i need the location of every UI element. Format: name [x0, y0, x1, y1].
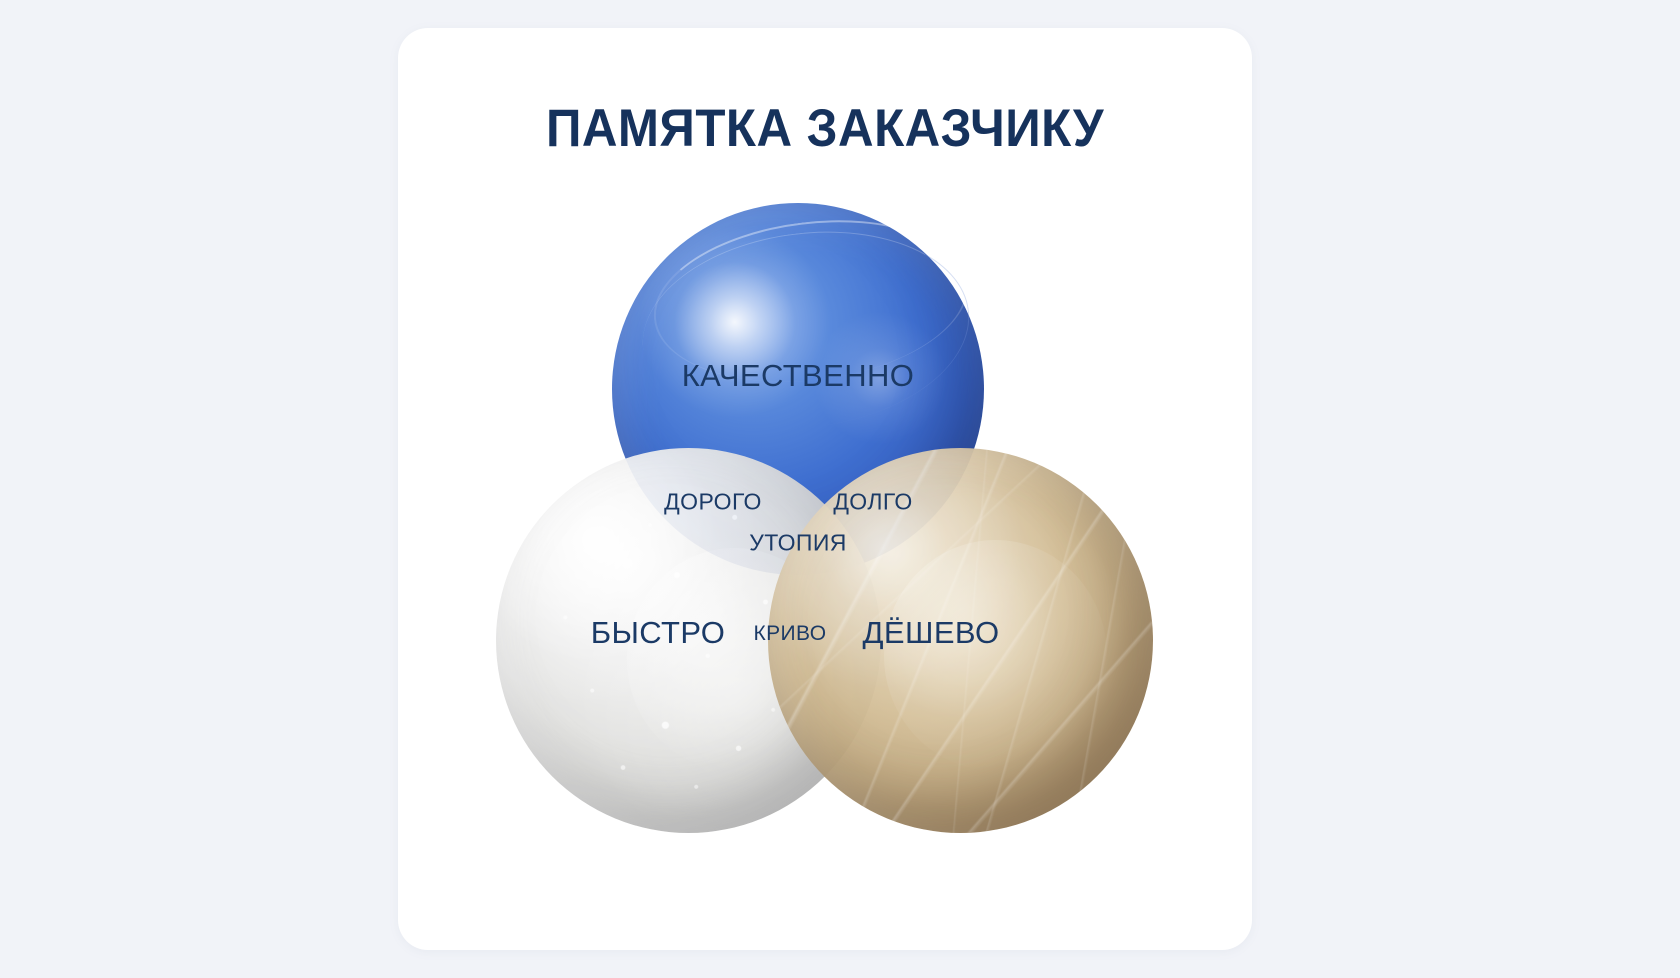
venn-label-long: ДОЛГО	[833, 489, 912, 516]
info-card: ПАМЯТКА ЗАКАЗЧИКУ КАЧЕСТВЕННО БЫСТРО ДЁШ…	[398, 28, 1252, 950]
venn-label-quality: КАЧЕСТВЕННО	[682, 358, 915, 394]
venn-label-cheap: ДЁШЕВО	[863, 615, 1000, 651]
venn-diagram: КАЧЕСТВЕННО БЫСТРО ДЁШЕВО ДОРОГО ДОЛГО К…	[398, 28, 1252, 950]
venn-label-utopia: УТОПИЯ	[749, 530, 847, 557]
venn-label-expensive: ДОРОГО	[664, 489, 762, 516]
venn-label-crooked: КРИВО	[754, 622, 827, 646]
venn-label-fast: БЫСТРО	[591, 615, 726, 651]
